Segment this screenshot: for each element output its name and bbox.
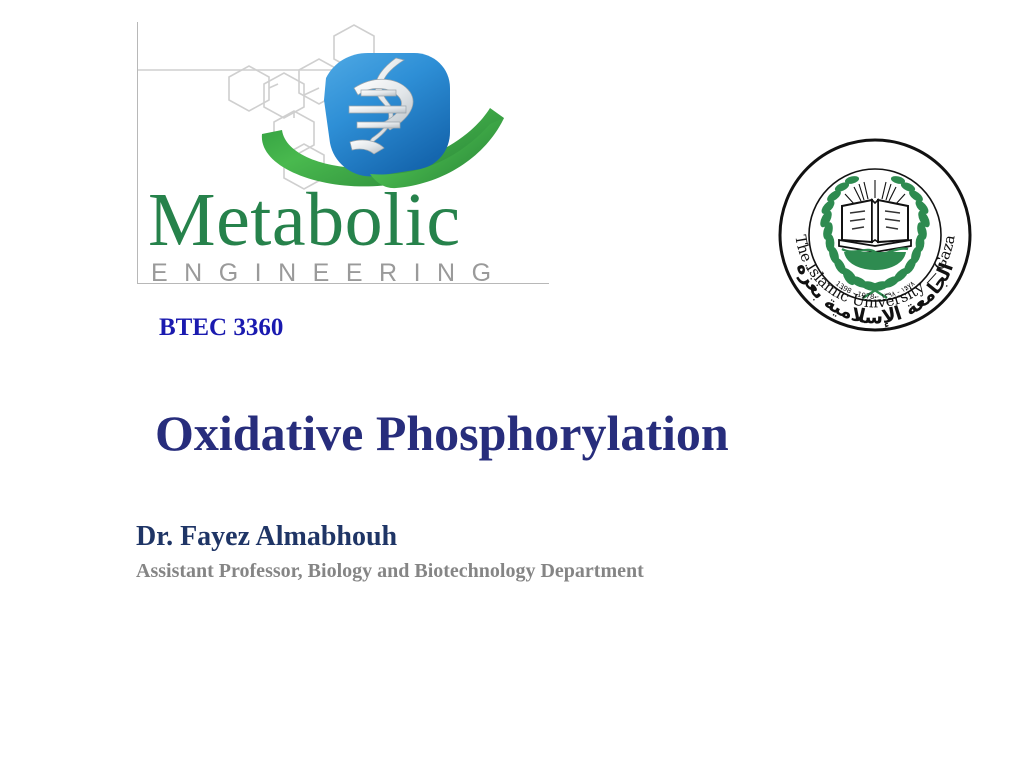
dna-hexagon-icon <box>138 22 550 192</box>
brand-wordmark: Metabolic ENGINEERING <box>142 182 550 282</box>
author-role: Assistant Professor, Biology and Biotech… <box>136 558 644 584</box>
page-title: Oxidative Phosphorylation <box>155 404 729 462</box>
author-name: Dr. Fayez Almabhouh <box>136 520 397 554</box>
course-code: BTEC 3360 <box>159 313 283 343</box>
title-slide: Metabolic ENGINEERING <box>0 0 1024 768</box>
brand-wordmark-main: Metabolic <box>148 182 461 258</box>
metabolic-engineering-logo: Metabolic ENGINEERING <box>137 22 549 284</box>
islamic-university-gaza-seal: الجامعة الإسلامية بغزة The Islamic Unive… <box>776 136 974 334</box>
brand-wordmark-sub: ENGINEERING <box>151 260 508 286</box>
